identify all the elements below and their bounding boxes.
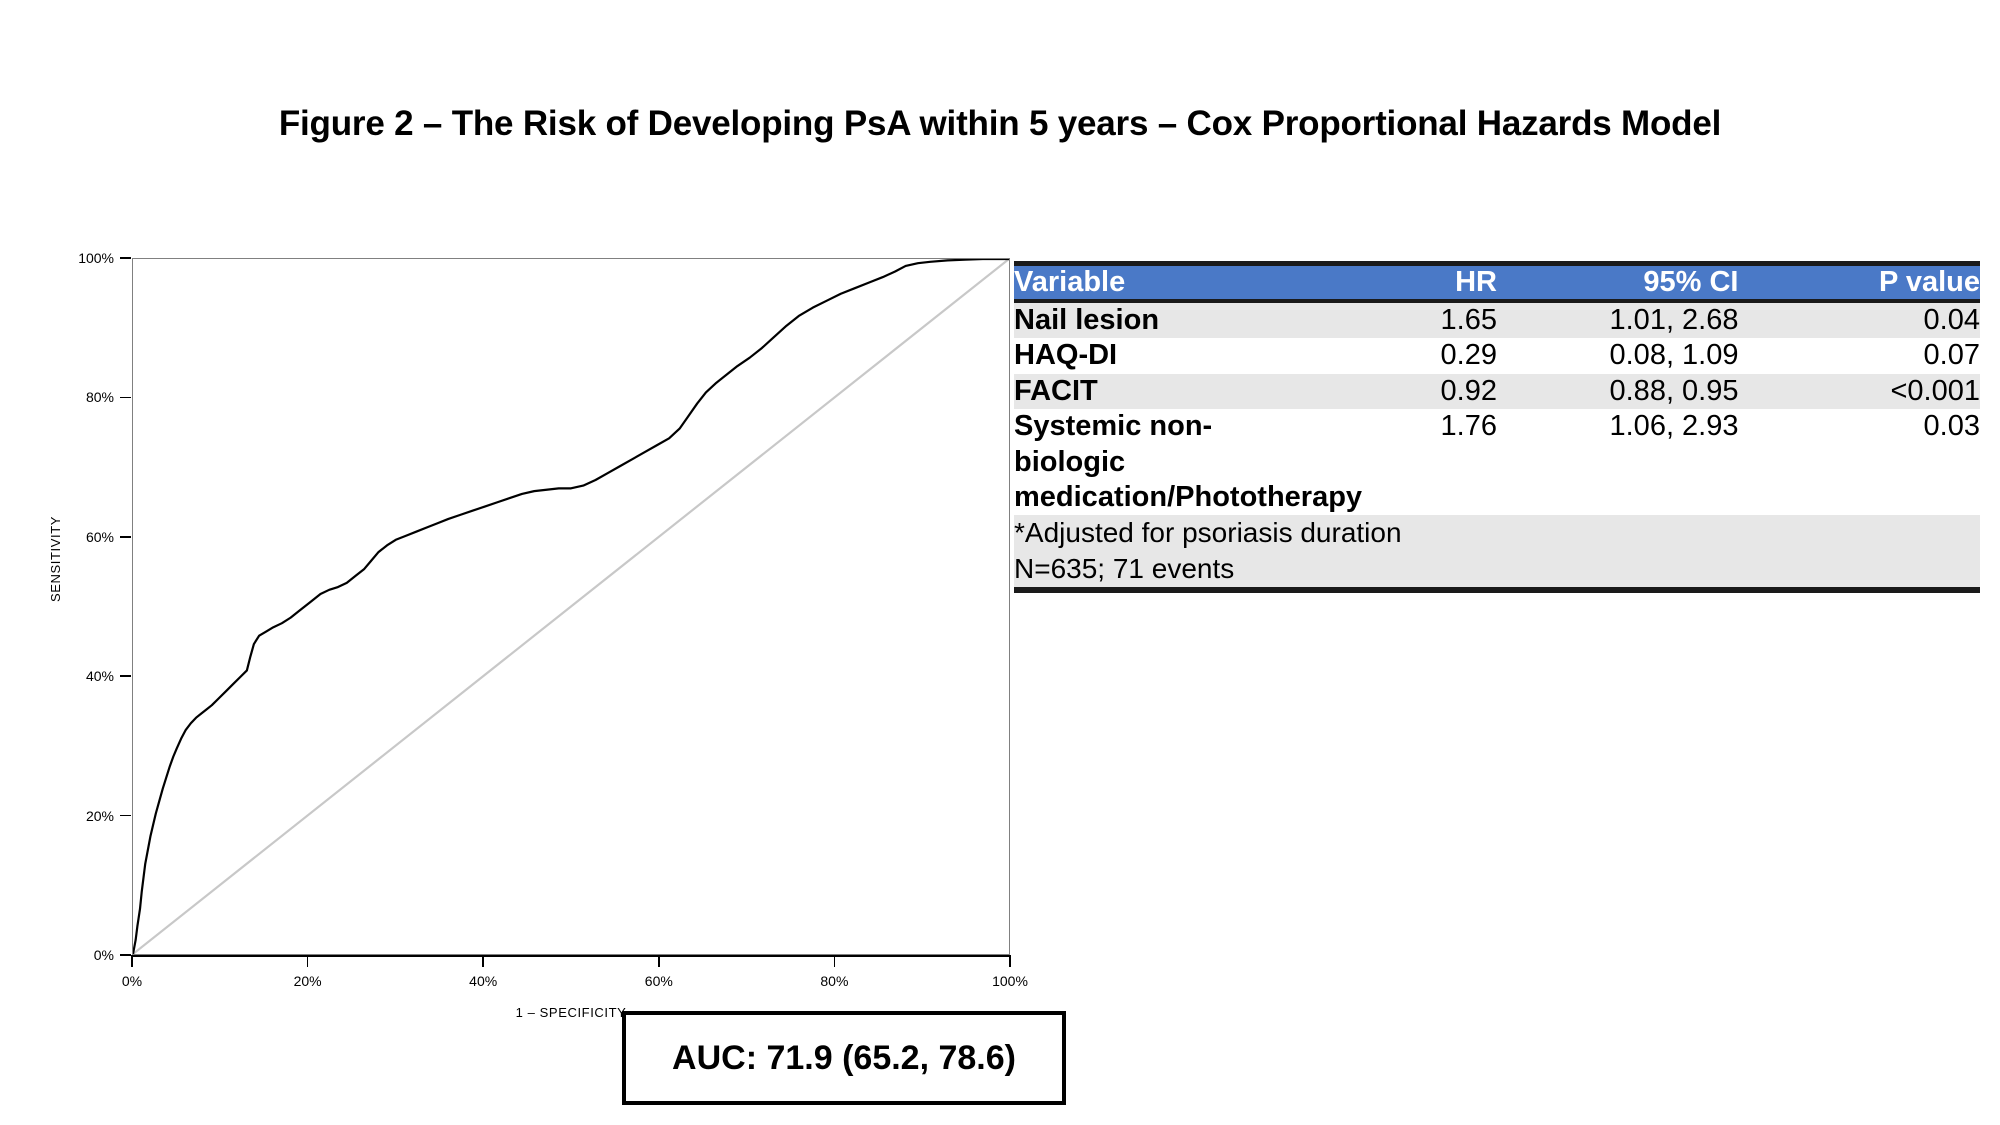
y-axis-tick-mark [120,954,131,956]
plot-area [132,258,1010,955]
row-hr-value: 0.92 [1256,374,1498,409]
reference-diagonal-line [133,259,1009,954]
x-axis-tick-mark [482,955,484,967]
x-axis-tick-mark [307,955,309,967]
column-header-ci: 95% CI [1497,266,1739,299]
y-axis-tick-label: 0% [60,947,114,963]
page-title: Figure 2 – The Risk of Developing PsA wi… [0,104,2000,144]
x-axis-tick-mark [1009,955,1011,967]
y-axis-tick-label: 40% [60,668,114,684]
footnote-line-2: N=635; 71 events [1014,551,1980,587]
table-bottom-rule [1014,587,1980,593]
auc-annotation-box: AUC: 71.9 (65.2, 78.6) [622,1011,1066,1105]
x-axis-tick-label: 60% [645,973,673,989]
roc-chart-figure: SENSITIVITY 0%20%40%60%80%100% 0%20%40%6… [60,250,1060,1030]
column-header-pvalue: P value [1739,266,1981,299]
column-header-variable: Variable [1014,266,1256,299]
row-variable-name: HAQ-DI [1014,338,1256,373]
x-axis-tick-label: 80% [820,973,848,989]
y-axis-tick-mark [120,257,131,259]
y-axis-tick-mark [120,536,131,538]
y-axis-tick-label: 80% [60,389,114,405]
x-axis-tick-label: 0% [122,973,142,989]
y-axis-tick-label: 20% [60,808,114,824]
row-variable-name: FACIT [1014,374,1256,409]
x-axis-tick-label: 40% [469,973,497,989]
row-ci-value: 0.88, 0.95 [1497,374,1739,409]
row-ci-value: 1.06, 2.93 [1497,409,1739,515]
y-axis-tick-mark [120,397,131,399]
table-row: FACIT0.920.88, 0.95<0.001 [1014,374,1980,409]
row-pvalue: 0.03 [1739,409,1981,515]
table-footnote-row: *Adjusted for psoriasis duration N=635; … [1014,515,1980,587]
column-header-hr: HR [1256,266,1498,299]
row-hr-value: 0.29 [1256,338,1498,373]
cox-model-results-table: Variable HR 95% CI P value Nail lesion1.… [1014,261,1980,593]
auc-annotation-label: AUC: 71.9 (65.2, 78.6) [672,1039,1016,1078]
row-hr-value: 1.65 [1256,303,1498,338]
footnote-line-1: *Adjusted for psoriasis duration [1014,515,1980,551]
row-ci-value: 1.01, 2.68 [1497,303,1739,338]
table-row: Systemic non-biologic medication/Phototh… [1014,409,1980,515]
x-axis-line [132,955,1010,957]
row-pvalue: 0.04 [1739,303,1981,338]
table-row: Nail lesion1.651.01, 2.680.04 [1014,303,1980,338]
roc-curve-svg [133,259,1009,954]
row-pvalue: 0.07 [1739,338,1981,373]
x-axis-tick-label: 100% [992,973,1028,989]
table-header-row: Variable HR 95% CI P value [1014,266,1980,299]
y-axis-tick-mark [120,815,131,817]
y-axis-tick-label: 100% [60,250,114,266]
row-ci-value: 0.08, 1.09 [1497,338,1739,373]
table-row: HAQ-DI0.290.08, 1.090.07 [1014,338,1980,373]
y-axis-tick-label: 60% [60,529,114,545]
x-axis-tick-label: 20% [294,973,322,989]
x-axis-tick-mark [131,955,133,967]
x-axis-tick-mark [658,955,660,967]
row-variable-name: Nail lesion [1014,303,1256,338]
y-axis-tick-mark [120,675,131,677]
x-axis-tick-mark [834,955,836,967]
slide-canvas: Figure 2 – The Risk of Developing PsA wi… [0,0,2000,1125]
row-pvalue: <0.001 [1739,374,1981,409]
row-variable-name: Systemic non-biologic medication/Phototh… [1014,409,1256,515]
